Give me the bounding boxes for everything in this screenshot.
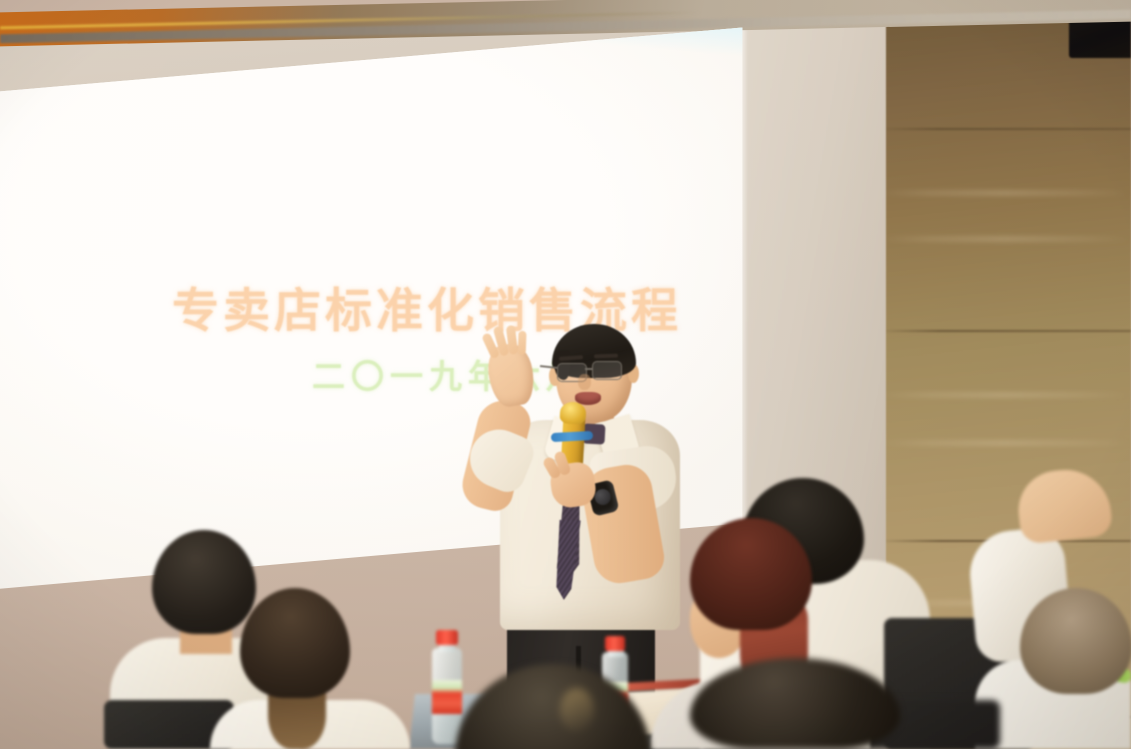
- microphone-head: [559, 401, 586, 424]
- ceiling-trim: [0, 0, 1131, 12]
- slide-subtitle: 二〇一九年六月: [312, 350, 585, 398]
- seminar-photo: 专卖店标准化销售流程 二〇一九年六月: [0, 0, 1131, 749]
